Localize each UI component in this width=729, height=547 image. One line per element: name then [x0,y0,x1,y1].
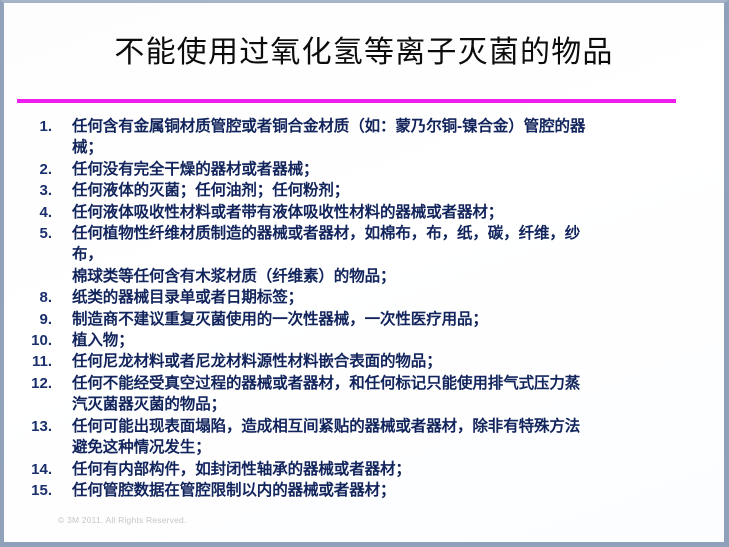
list-item: 4.任何液体吸收性材料或者带有液体吸收性材料的器械或者器材； [4,202,724,223]
list-item-line: 任何液体吸收性材料或者带有液体吸收性材料的器械或者器材； [72,202,688,223]
numbered-list: 1.任何含有金属铜材质管腔或者铜合金材质（如：蒙乃尔铜-镍合金）管腔的器械；2.… [4,116,724,501]
list-item-text: 任何含有金属铜材质管腔或者铜合金材质（如：蒙乃尔铜-镍合金）管腔的器械； [52,116,724,159]
list-item-continuation-line: 械； [72,137,688,158]
list-item-continuation-line: 布， [72,244,688,265]
list-item: 5.任何植物性纤维材质制造的器械或者器材，如棉布，布，纸，碳，纤维，纱布，棉球类… [4,223,724,287]
list-item: 14.任何有内部构件，如封闭性轴承的器械或者器材； [4,459,724,480]
list-item-text: 纸类的器械目录单或者日期标签； [52,287,724,308]
page-title: 不能使用过氧化氢等离子灭菌的物品 [114,33,613,73]
list-item-number: 8. [4,287,52,308]
list-item-text: 任何没有完全干燥的器材或者器械； [52,159,724,180]
title-divider-rule [17,99,676,103]
list-item-number: 13. [4,416,52,437]
slide-canvas: 不能使用过氧化氢等离子灭菌的物品 1.任何含有金属铜材质管腔或者铜合金材质（如：… [4,3,724,542]
list-item-line: 任何液体的灭菌；任何油剂；任何粉剂； [72,180,688,201]
list-item: 8.纸类的器械目录单或者日期标签； [4,287,724,308]
list-item-number: 5. [4,223,52,244]
list-item-line: 任何管腔数据在管腔限制以内的器械或者器材； [72,480,688,501]
list-item-text: 任何可能出现表面塌陷，造成相互间紧贴的器械或者器材，除非有特殊方法避免这种情况发… [52,416,724,459]
list-item: 9.制造商不建议重复灭菌使用的一次性器械，一次性医疗用品； [4,309,724,330]
list-item-text: 任何不能经受真空过程的器械或者器材，和任何标记只能使用排气式压力蒸汽灭菌器灭菌的… [52,373,724,416]
list-item-text: 任何尼龙材料或者尼龙材料源性材料嵌合表面的物品； [52,351,724,372]
list-item-number: 11. [4,351,52,372]
list-item-continuation-line: 避免这种情况发生； [72,437,688,458]
list-item-number: 1. [4,116,52,137]
list-item-line: 任何植物性纤维材质制造的器械或者器材，如棉布，布，纸，碳，纤维，纱 [72,223,688,244]
list-item-line: 任何不能经受真空过程的器械或者器材，和任何标记只能使用排气式压力蒸 [72,373,688,394]
list-item: 15.任何管腔数据在管腔限制以内的器械或者器材； [4,480,724,501]
list-item-continuation-line: 汽灭菌器灭菌的物品； [72,394,688,415]
list-item-number: 12. [4,373,52,394]
list-item-text: 制造商不建议重复灭菌使用的一次性器械，一次性医疗用品； [52,309,724,330]
list-item-line: 任何可能出现表面塌陷，造成相互间紧贴的器械或者器材，除非有特殊方法 [72,416,688,437]
list-item: 13.任何可能出现表面塌陷，造成相互间紧贴的器械或者器材，除非有特殊方法避免这种… [4,416,724,459]
slide-frame: 不能使用过氧化氢等离子灭菌的物品 1.任何含有金属铜材质管腔或者铜合金材质（如：… [0,0,729,547]
list-item-text: 任何液体的灭菌；任何油剂；任何粉剂； [52,180,724,201]
list-item: 11.任何尼龙材料或者尼龙材料源性材料嵌合表面的物品； [4,351,724,372]
list-item-line: 任何有内部构件，如封闭性轴承的器械或者器材； [72,459,688,480]
list-item: 2.任何没有完全干燥的器材或者器械； [4,159,724,180]
list-item-line: 任何含有金属铜材质管腔或者铜合金材质（如：蒙乃尔铜-镍合金）管腔的器 [72,116,688,137]
title-block: 不能使用过氧化氢等离子灭菌的物品 [4,33,724,73]
list-item-number: 10. [4,330,52,351]
list-item-continuation-line: 棉球类等任何含有木浆材质（纤维素）的物品； [72,266,688,287]
list-item-line: 任何没有完全干燥的器材或者器械； [72,159,688,180]
list-item-text: 植入物； [52,330,724,351]
list-item-number: 14. [4,459,52,480]
list-item: 12.任何不能经受真空过程的器械或者器材，和任何标记只能使用排气式压力蒸汽灭菌器… [4,373,724,416]
list-item: 1.任何含有金属铜材质管腔或者铜合金材质（如：蒙乃尔铜-镍合金）管腔的器械； [4,116,724,159]
list-item-number: 2. [4,159,52,180]
list-item-text: 任何有内部构件，如封闭性轴承的器械或者器材； [52,459,724,480]
list-item-number: 3. [4,180,52,201]
list-item-text: 任何植物性纤维材质制造的器械或者器材，如棉布，布，纸，碳，纤维，纱布，棉球类等任… [52,223,724,287]
list-item-line: 任何尼龙材料或者尼龙材料源性材料嵌合表面的物品； [72,351,688,372]
list-item-number: 15. [4,480,52,501]
list-item-line: 纸类的器械目录单或者日期标签； [72,287,688,308]
list-item-number: 9. [4,309,52,330]
list-item: 3.任何液体的灭菌；任何油剂；任何粉剂； [4,180,724,201]
footer-copyright: © 3M 2011. All Rights Reserved. [58,515,187,525]
list-item-text: 任何液体吸收性材料或者带有液体吸收性材料的器械或者器材； [52,202,724,223]
list-item: 10.植入物； [4,330,724,351]
list-item-number: 4. [4,202,52,223]
list-item-text: 任何管腔数据在管腔限制以内的器械或者器材； [52,480,724,501]
list-item-line: 植入物； [72,330,688,351]
list-item-line: 制造商不建议重复灭菌使用的一次性器械，一次性医疗用品； [72,309,688,330]
